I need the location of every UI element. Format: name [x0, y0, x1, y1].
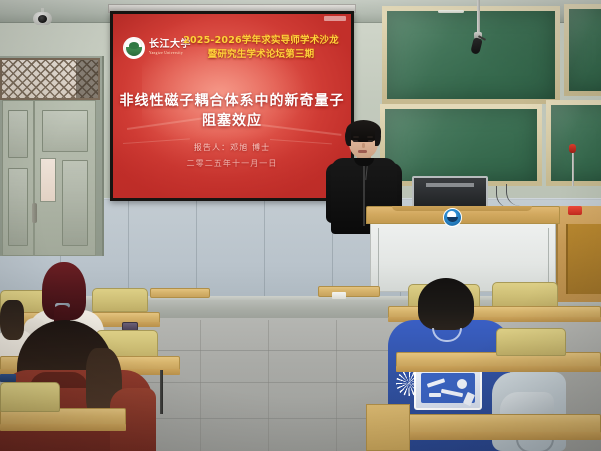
door-panel: [42, 110, 88, 152]
speaker-eye-left: [353, 140, 358, 142]
transom-shadow: [76, 60, 98, 100]
blackboard-sheen: [387, 11, 555, 99]
speaker-mouth: [358, 150, 367, 153]
seat-back: [0, 382, 60, 412]
desk-row-back: [318, 286, 380, 297]
blackboard-light: [438, 10, 464, 13]
desk-side-panel: [366, 404, 410, 451]
slide-header-line-2: 暨研究生学术论坛第三期: [171, 48, 351, 62]
speaker-eye-right: [368, 140, 373, 142]
desk-microphone-stand: [572, 150, 574, 186]
floor-tile-line: [140, 382, 420, 383]
floor-tile-line: [200, 320, 201, 451]
blackboard-upper-right: [564, 4, 601, 96]
desk-edge: [404, 432, 601, 440]
lectern-seam: [548, 228, 549, 286]
lectern-emblem-icon: [443, 208, 462, 227]
blackboard-lower-left: [380, 104, 542, 186]
door-panel: [8, 168, 28, 246]
door-vision-panel: [40, 158, 56, 202]
blackboard-sheen: [569, 9, 601, 91]
audience-student-blue-jacket-hair: [418, 278, 474, 330]
slide-top-badge: [324, 16, 346, 21]
lecture-hall-photo: 长江大学 Yangtze University 2025-2026学年求实导师学…: [0, 0, 601, 451]
lectern-seam: [378, 228, 379, 286]
print-glyph: [427, 378, 445, 387]
wainscot-seam: [264, 200, 265, 310]
seat-back: [492, 282, 558, 308]
presentation-slide: 长江大学 Yangtze University 2025-2026学年求实导师学…: [113, 14, 351, 198]
print-glyph: [463, 392, 475, 406]
desk-row-4-right: [404, 414, 601, 434]
blackboard-sheen: [385, 109, 537, 181]
camera-lens-icon: [38, 15, 47, 23]
desk-microphone-icon: [569, 144, 576, 153]
blackboard-upper-left: [382, 6, 560, 104]
slide-header-line-1: 2025-2026学年求实导师学术沙龙: [171, 34, 351, 48]
wall-cabinet-interior: [566, 224, 601, 294]
floor-tile-line: [150, 350, 410, 351]
slide-header: 2025-2026学年求实导师学术沙龙 暨研究生学术论坛第三期: [113, 34, 351, 62]
blackboard-sheen: [551, 105, 601, 181]
audience-student-cream-shirt-hair: [0, 300, 24, 340]
door-transom-window: [0, 58, 100, 100]
desk-edge: [0, 424, 126, 431]
print-glyph: [457, 379, 467, 389]
desk-edge: [396, 366, 601, 372]
slide-bottom-fade: [113, 135, 351, 198]
speaker-hair-side-left: [345, 130, 351, 146]
door-handle[interactable]: [32, 203, 37, 223]
slide-title: 非线性磁子耦合体系中的新奇量子阻塞效应: [113, 90, 351, 130]
microphone-rod: [477, 0, 480, 34]
speaker-brow-left: [353, 136, 359, 138]
door-panel: [62, 160, 88, 246]
print-glyph: [441, 389, 463, 397]
speaker-nose: [362, 143, 365, 148]
print-glyph: [429, 393, 441, 397]
floor-tile-line: [268, 320, 269, 451]
floor-tile-line: [336, 320, 337, 451]
notebook-on-desk: [0, 374, 16, 382]
paper-on-desk: [332, 292, 346, 299]
seat-back: [92, 288, 148, 312]
speaker-brow-right: [367, 136, 373, 138]
speaker-jacket-zipper: [363, 166, 365, 226]
desk-row-back: [150, 288, 210, 298]
door-center-seam: [33, 100, 35, 256]
desk-leg: [160, 370, 163, 414]
red-item-on-cabinet: [568, 206, 582, 215]
jacket-back-graphic-print: [414, 366, 482, 410]
seat-back: [496, 328, 566, 356]
monitor-screen-highlight: [426, 183, 474, 187]
lectern-notch: [392, 206, 532, 211]
door-panel: [8, 110, 28, 158]
projection-screen[interactable]: 长江大学 Yangtze University 2025-2026学年求实导师学…: [110, 11, 354, 201]
print-inner-field: [421, 373, 475, 403]
